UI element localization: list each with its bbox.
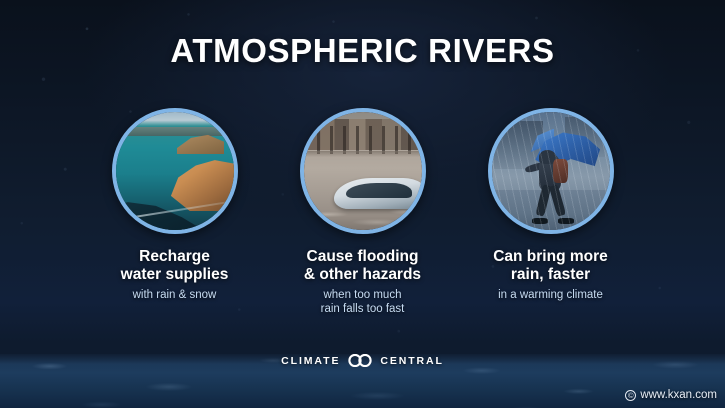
kxan-watermark: © www.kxan.com <box>625 389 717 401</box>
panel-heading: Can bring more rain, faster <box>493 248 608 284</box>
circle-image-flood <box>300 108 426 234</box>
logo-word-climate: CLIMATE <box>281 355 340 367</box>
two-rings-logo-mark <box>347 354 373 367</box>
panel-flooding: Cause flooding & other hazards when too … <box>278 108 448 316</box>
flood-horizon <box>304 151 422 157</box>
falling-rain-streaks <box>492 112 610 230</box>
page-title: ATMOSPHERIC RIVERS <box>0 32 725 70</box>
far-shoreline <box>116 127 234 135</box>
climate-central-logo: CLIMATE CENTRAL <box>0 354 725 367</box>
flooded-street-car-photo <box>304 112 422 230</box>
panel-group: Recharge water supplies with rain & snow… <box>0 108 725 316</box>
infographic-canvas: ATMOSPHERIC RIVERS Recharge water suppli… <box>0 0 725 408</box>
copyright-icon: © <box>625 390 636 401</box>
watermark-url: www.kxan.com <box>640 389 717 401</box>
panel-subtext: when too much rain falls too fast <box>321 289 405 316</box>
logo-word-central: CENTRAL <box>380 355 443 367</box>
circle-image-rain <box>488 108 614 234</box>
panel-recharge: Recharge water supplies with rain & snow <box>90 108 260 316</box>
car-window <box>346 183 412 198</box>
rock-ledge-upper <box>177 133 224 154</box>
reservoir-lake-photo <box>116 112 234 230</box>
person-umbrella-rain-photo <box>492 112 610 230</box>
panel-heading: Recharge water supplies <box>121 248 229 284</box>
panel-subtext: in a warming climate <box>498 289 603 303</box>
panel-heading: Cause flooding & other hazards <box>304 248 421 284</box>
flood-ripples <box>304 204 422 230</box>
circle-image-reservoir <box>112 108 238 234</box>
panel-more-rain: Can bring more rain, faster in a warming… <box>466 108 636 316</box>
panel-subtext: with rain & snow <box>133 289 217 303</box>
